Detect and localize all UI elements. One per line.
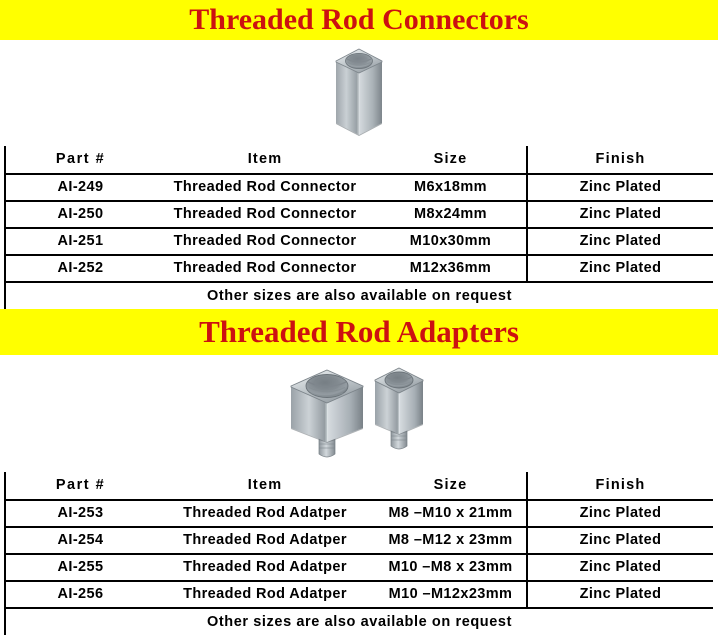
cell-finish: Zinc Plated <box>527 255 713 282</box>
threaded-rod-connector-photo <box>330 43 388 143</box>
cell-item: Threaded Rod Connector <box>155 174 375 201</box>
cell-finish: Zinc Plated <box>527 554 713 581</box>
footnote-text: Other sizes are also available on reques… <box>5 608 713 635</box>
table-footnote-row: Other sizes are also available on reques… <box>5 608 713 635</box>
cell-size: M8 –M12 x 23mm <box>375 527 527 554</box>
cell-finish: Zinc Plated <box>527 500 713 527</box>
cell-part: AI-254 <box>5 527 155 554</box>
cell-item: Threaded Rod Connector <box>155 255 375 282</box>
banner-title-adapters: Threaded Rod Adapters <box>0 309 718 355</box>
cell-item: Threaded Rod Connector <box>155 201 375 228</box>
table-footnote-row: Other sizes are also available on reques… <box>5 282 713 309</box>
adapters-table-block: Part # Item Size Finish AI-253 Threaded … <box>0 472 718 635</box>
table-row: AI-249 Threaded Rod Connector M6x18mm Zi… <box>5 174 713 201</box>
table-row: AI-250 Threaded Rod Connector M8x24mm Zi… <box>5 201 713 228</box>
column-header-finish: Finish <box>527 472 713 500</box>
cell-item: Threaded Rod Connector <box>155 228 375 255</box>
table-header-row: Part # Item Size Finish <box>5 146 713 174</box>
table-header-row: Part # Item Size Finish <box>5 472 713 500</box>
cell-item: Threaded Rod Adatper <box>155 527 375 554</box>
cell-size: M12x36mm <box>375 255 527 282</box>
column-header-size: Size <box>375 146 527 174</box>
cell-item: Threaded Rod Adatper <box>155 554 375 581</box>
cell-finish: Zinc Plated <box>527 201 713 228</box>
table-row: AI-255 Threaded Rod Adatper M10 –M8 x 23… <box>5 554 713 581</box>
connector-photo-area <box>0 40 718 146</box>
column-header-item: Item <box>155 472 375 500</box>
adapters-spec-table: Part # Item Size Finish AI-253 Threaded … <box>4 472 713 635</box>
cell-part: AI-255 <box>5 554 155 581</box>
table-row: AI-253 Threaded Rod Adatper M8 –M10 x 21… <box>5 500 713 527</box>
column-header-size: Size <box>375 472 527 500</box>
cell-item: Threaded Rod Adatper <box>155 500 375 527</box>
table-row: AI-254 Threaded Rod Adatper M8 –M12 x 23… <box>5 527 713 554</box>
cell-part: AI-256 <box>5 581 155 608</box>
cell-finish: Zinc Plated <box>527 527 713 554</box>
cell-finish: Zinc Plated <box>527 581 713 608</box>
section-banner-adapters: Threaded Rod Adapters <box>0 309 718 355</box>
adapter-photo-area <box>0 355 718 472</box>
cell-size: M10x30mm <box>375 228 527 255</box>
column-header-finish: Finish <box>527 146 713 174</box>
cell-size: M10 –M8 x 23mm <box>375 554 527 581</box>
cell-part: AI-253 <box>5 500 155 527</box>
cell-item: Threaded Rod Adatper <box>155 581 375 608</box>
cell-size: M8 –M10 x 21mm <box>375 500 527 527</box>
section-banner-connectors: Threaded Rod Connectors <box>0 0 718 40</box>
banner-title-connectors: Threaded Rod Connectors <box>0 0 718 40</box>
connectors-spec-table: Part # Item Size Finish AI-249 Threaded … <box>4 146 713 309</box>
threaded-rod-adapter-photo <box>283 362 435 466</box>
cell-part: AI-250 <box>5 201 155 228</box>
table-row: AI-252 Threaded Rod Connector M12x36mm Z… <box>5 255 713 282</box>
column-header-item: Item <box>155 146 375 174</box>
cell-part: AI-252 <box>5 255 155 282</box>
table-row: AI-256 Threaded Rod Adatper M10 –M12x23m… <box>5 581 713 608</box>
footnote-text: Other sizes are also available on reques… <box>5 282 713 309</box>
cell-finish: Zinc Plated <box>527 174 713 201</box>
connectors-table-block: Part # Item Size Finish AI-249 Threaded … <box>0 146 718 309</box>
column-header-part: Part # <box>5 472 155 500</box>
cell-size: M10 –M12x23mm <box>375 581 527 608</box>
cell-size: M8x24mm <box>375 201 527 228</box>
table-row: AI-251 Threaded Rod Connector M10x30mm Z… <box>5 228 713 255</box>
cell-part: AI-249 <box>5 174 155 201</box>
column-header-part: Part # <box>5 146 155 174</box>
cell-finish: Zinc Plated <box>527 228 713 255</box>
cell-part: AI-251 <box>5 228 155 255</box>
cell-size: M6x18mm <box>375 174 527 201</box>
